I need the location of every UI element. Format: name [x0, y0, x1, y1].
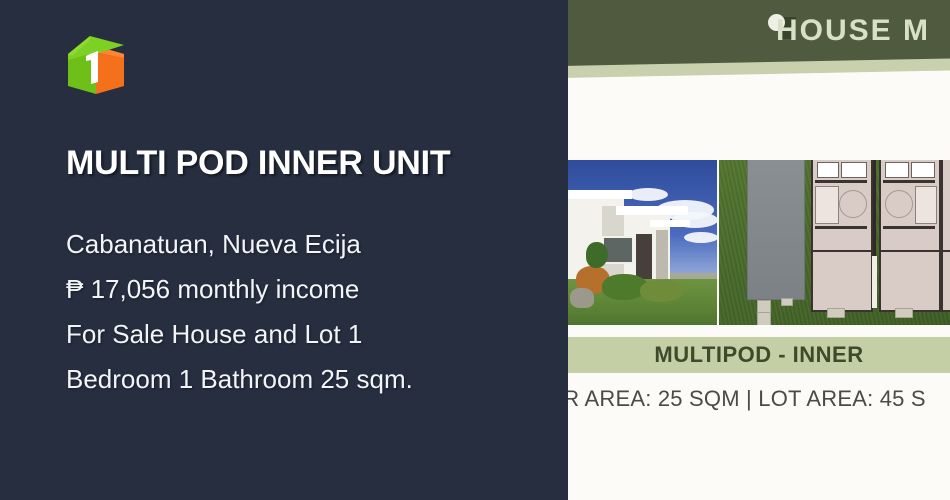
house-canopy [616, 206, 688, 215]
plan-wall [815, 226, 867, 229]
plan-gap [872, 256, 877, 308]
plan-wall [815, 180, 867, 183]
plan-wall [883, 226, 935, 229]
listing-offer-line-2: Bedroom 1 Bathroom 25 sqm. [66, 357, 536, 402]
plan-room [815, 186, 839, 224]
plan-unit-lower [879, 250, 941, 312]
plan-roof-slab [747, 160, 805, 300]
house-one-logo-icon[interactable] [64, 32, 128, 100]
house-eave [568, 190, 632, 199]
unit-label: MULTIPOD - INNER [568, 337, 950, 373]
listing-location: Cabanatuan, Nueva Ecija [66, 222, 536, 267]
unit-label-band: MULTIPOD - INNER [568, 337, 950, 373]
plan-path-tile [781, 298, 793, 306]
listing-info-panel: MULTI POD INNER UNIT Cabanatuan, Nueva E… [0, 0, 568, 500]
plan-wall [883, 180, 935, 183]
page-title: MULTI POD INNER UNIT [66, 146, 546, 182]
plan-fixture [911, 162, 935, 178]
plan-unit [879, 160, 941, 256]
area-caption: OR AREA: 25 SQM | LOT AREA: 45 S [568, 386, 950, 412]
listing-monthly-income: ₱ 17,056 monthly income [66, 267, 536, 312]
plan-fixture [841, 162, 867, 178]
listing-offer-line-1: For Sale House and Lot 1 [66, 312, 536, 357]
listing-details: Cabanatuan, Nueva Ecija ₱ 17,056 monthly… [66, 222, 536, 402]
plan-door-swing [839, 190, 867, 218]
property-listing-card: MULTI POD INNER UNIT Cabanatuan, Nueva E… [0, 0, 950, 500]
plan-fixture [817, 162, 839, 178]
brochure-panel: HOUSE M [568, 0, 950, 500]
plan-unit-lower [811, 250, 873, 312]
cloud-shape [684, 232, 717, 243]
plan-entry-tile [827, 308, 845, 318]
plan-unit-partial-lower [941, 250, 950, 312]
rock [570, 288, 594, 308]
brochure-banner-title: HOUSE M [776, 14, 930, 48]
cloud-shape [628, 188, 668, 201]
plan-door-swing [885, 190, 913, 218]
plan-room [915, 186, 937, 224]
plan-entry-tile [895, 308, 913, 318]
plan-unit-partial [941, 160, 950, 256]
plan-unit [811, 160, 873, 256]
plan-path-tile [757, 312, 771, 325]
brochure-media-row [568, 160, 950, 325]
plan-fixture [885, 162, 909, 178]
house-canopy-2 [650, 220, 690, 227]
model-house-photo [568, 160, 717, 325]
site-floor-plan [719, 160, 950, 325]
